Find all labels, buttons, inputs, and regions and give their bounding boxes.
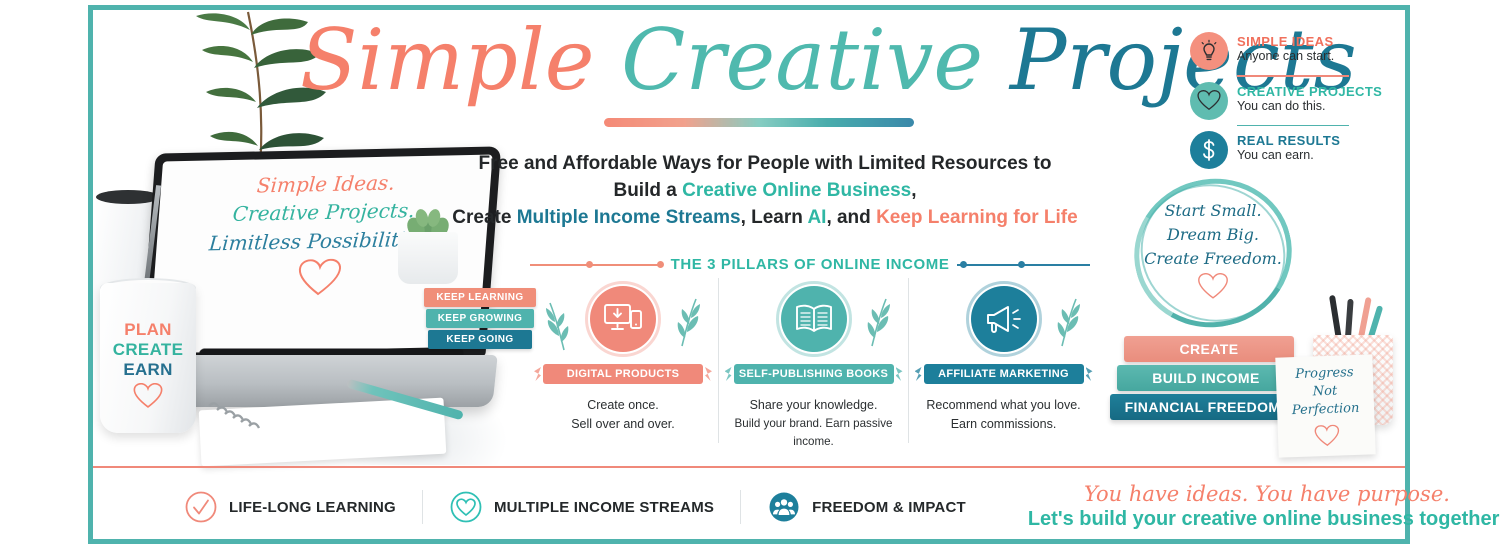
- pillar-desc-line-1: Share your knowledge.: [725, 396, 902, 415]
- footer-item-multiple-income-streams[interactable]: MULTIPLE INCOME STREAMS: [422, 490, 740, 524]
- heart-outline-icon: [133, 383, 163, 409]
- leaf-sprig-icon: [676, 296, 702, 348]
- benefit-real-results[interactable]: REAL RESULTS You can earn.: [1190, 131, 1390, 169]
- rule-dot: [960, 261, 967, 268]
- footer-items: LIFE-LONG LEARNING MULTIPLE INCOME STREA…: [158, 490, 992, 524]
- pillars-heading: THE 3 PILLARS OF ONLINE INCOME: [671, 256, 950, 273]
- pillar-circle: [971, 286, 1037, 352]
- small-book: KEEP GROWING: [426, 309, 534, 328]
- benefit-subtitle: You can earn.: [1237, 148, 1340, 162]
- open-book-icon: [794, 302, 834, 336]
- subtitle-line-2-post: ,: [911, 180, 916, 201]
- title-word-simple: Simple: [300, 11, 594, 109]
- subtitle-highlight-ai: AI: [807, 207, 826, 228]
- leaf-sprig-icon: [1056, 296, 1082, 348]
- people-circle-icon: [767, 490, 801, 524]
- lightbulb-icon: [1198, 39, 1220, 63]
- note-card-line-2: Not: [1291, 382, 1359, 402]
- subtitle-line-2-pre: Build a: [613, 180, 682, 201]
- pillar-description: Share your knowledge. Build your brand. …: [719, 396, 908, 451]
- mug-line-2: CREATE: [100, 340, 196, 360]
- footer-item-freedom-and-impact[interactable]: FREEDOM & IMPACT: [740, 490, 992, 524]
- subtitle: Free and Affordable Ways for People with…: [430, 150, 1100, 231]
- pillar-desc-line-2: Sell over and over.: [534, 415, 712, 434]
- pillar-description: Recommend what you love. Earn commission…: [909, 396, 1098, 435]
- pillar-self-publishing-books[interactable]: SELF-PUBLISHING BOOKS Share your knowled…: [718, 278, 908, 443]
- pillar-desc-line-2: Build your brand. Earn passive income.: [725, 415, 902, 451]
- heart-icon: [1197, 90, 1221, 111]
- footer-item-label: MULTIPLE INCOME STREAMS: [494, 499, 714, 516]
- note-card-text: Progress Not Perfection: [1290, 364, 1359, 420]
- pillar-circle: [781, 286, 847, 352]
- heart-circle-icon: [449, 490, 483, 524]
- pillar-banner: AFFILIATE MARKETING: [924, 364, 1084, 384]
- benefit-title: SIMPLE IDEAS: [1237, 34, 1334, 49]
- benefit-icon-circle: [1190, 82, 1228, 120]
- subtitle-line-3-pre: Create: [452, 207, 516, 228]
- benefit-title: REAL RESULTS: [1237, 133, 1340, 148]
- benefit-text: CREATIVE PROJECTS You can do this.: [1237, 82, 1382, 113]
- circle-quote-text: Start Small. Dream Big. Create Freedom.: [1144, 199, 1282, 307]
- subtitle-highlight-income: Multiple Income Streams: [517, 207, 741, 228]
- heart-outline-icon: [295, 259, 342, 298]
- pillar-banner: DIGITAL PRODUCTS: [543, 364, 703, 384]
- dollar-sign-icon: [1198, 138, 1220, 162]
- coffee-cup-rim: [96, 190, 160, 204]
- footer-cta: You have ideas. You have purpose. Let's …: [1028, 482, 1500, 532]
- book-financial-freedom: FINANCIAL FREEDOM: [1110, 394, 1295, 420]
- small-book: KEEP LEARNING: [424, 288, 536, 307]
- benefit-subtitle: You can do this.: [1237, 99, 1382, 113]
- benefit-creative-projects[interactable]: CREATIVE PROJECTS You can do this.: [1190, 82, 1390, 120]
- circle-quote-badge: Start Small. Dream Big. Create Freedom.: [1132, 193, 1294, 313]
- rule-dot: [657, 261, 664, 268]
- heart-outline-icon: [1313, 424, 1340, 447]
- heading-rule-right: [957, 264, 1090, 266]
- pillar-icon-wrap: [909, 278, 1098, 360]
- small-book: KEEP GOING: [428, 330, 532, 349]
- book-create: CREATE: [1124, 336, 1294, 362]
- monitor-download-icon: [603, 302, 643, 336]
- benefits-list: SIMPLE IDEAS Anyone can start. CREATIVE …: [1190, 32, 1390, 174]
- small-book-stack: KEEP LEARNING KEEP GROWING KEEP GOING: [424, 288, 536, 351]
- subtitle-line-3-mid2: , and: [826, 207, 876, 228]
- footer-divider: [93, 466, 1405, 468]
- footer-cta-bold: Let's build your creative online busines…: [1028, 506, 1500, 532]
- benefit-text: SIMPLE IDEAS Anyone can start.: [1237, 32, 1334, 63]
- benefit-divider: [1237, 125, 1349, 127]
- benefit-divider: [1237, 75, 1349, 77]
- pillar-desc-line-1: Recommend what you love.: [915, 396, 1092, 415]
- check-circle-icon: [184, 490, 218, 524]
- circle-quote-line-2: Dream Big.: [1144, 223, 1282, 247]
- pillar-icon-wrap: [719, 278, 908, 360]
- page-title: Simple Creative Projects: [300, 18, 1180, 102]
- circle-quote-line-3: Create Freedom.: [1144, 247, 1282, 271]
- mug-line-3: EARN: [100, 360, 196, 380]
- pillar-circle: [590, 286, 656, 352]
- plant-pot: [398, 232, 458, 284]
- heart-outline-icon: [1197, 273, 1229, 300]
- footer-bar: LIFE-LONG LEARNING MULTIPLE INCOME STREA…: [93, 470, 1405, 544]
- leaf-sprig-icon: [866, 296, 892, 348]
- title-underline-swoosh: [604, 118, 914, 127]
- leaf-sprig-icon: [544, 300, 570, 352]
- note-card-line-3: Perfection: [1292, 400, 1360, 420]
- footer-item-label: FREEDOM & IMPACT: [812, 499, 966, 516]
- footer-cta-script: You have ideas. You have purpose.: [1028, 482, 1500, 506]
- pillars-list: DIGITAL PRODUCTS Create once. Sell over …: [528, 278, 1098, 443]
- pillar-icon-wrap: [528, 278, 718, 360]
- note-card-line-1: Progress: [1290, 364, 1358, 384]
- note-card: Progress Not Perfection: [1275, 354, 1375, 457]
- subtitle-highlight-business: Creative Online Business: [682, 180, 911, 201]
- megaphone-icon: [984, 302, 1024, 336]
- heading-rule-left: [530, 264, 663, 266]
- subtitle-line-1: Free and Affordable Ways for People with…: [430, 150, 1100, 177]
- pillar-affiliate-marketing[interactable]: AFFILIATE MARKETING Recommend what you l…: [908, 278, 1098, 443]
- benefit-simple-ideas[interactable]: SIMPLE IDEAS Anyone can start.: [1190, 32, 1390, 70]
- book-build-income: BUILD INCOME: [1117, 365, 1295, 391]
- footer-item-label: LIFE-LONG LEARNING: [229, 499, 396, 516]
- rule-dot: [586, 261, 593, 268]
- mug-line-1: PLAN: [100, 320, 196, 340]
- benefit-text: REAL RESULTS You can earn.: [1237, 131, 1340, 162]
- benefit-subtitle: Anyone can start.: [1237, 49, 1334, 63]
- footer-item-life-long-learning[interactable]: LIFE-LONG LEARNING: [158, 490, 422, 524]
- subtitle-line-2: Build a Creative Online Business,: [430, 177, 1100, 204]
- pillar-banner: SELF-PUBLISHING BOOKS: [734, 364, 894, 384]
- pillar-desc-line-2: Earn commissions.: [915, 415, 1092, 434]
- benefit-title: CREATIVE PROJECTS: [1237, 84, 1382, 99]
- banner-root: Simple Ideas. Creative Projects. Limitle…: [0, 0, 1500, 549]
- benefit-icon-circle: [1190, 32, 1228, 70]
- subtitle-line-3: Create Multiple Income Streams, Learn AI…: [430, 204, 1100, 231]
- spiral-binding-icon: [205, 400, 265, 444]
- pillars-heading-row: THE 3 PILLARS OF ONLINE INCOME: [530, 256, 1090, 273]
- rule-dot: [1018, 261, 1025, 268]
- big-book-stack: CREATE BUILD INCOME FINANCIAL FREEDOM: [1110, 336, 1295, 423]
- benefit-icon-circle: [1190, 131, 1228, 169]
- mug-text: PLAN CREATE EARN: [100, 320, 196, 414]
- pillar-desc-line-1: Create once.: [534, 396, 712, 415]
- pillar-description: Create once. Sell over and over.: [528, 396, 718, 435]
- circle-quote-line-1: Start Small.: [1144, 199, 1282, 223]
- subtitle-line-3-mid: , Learn: [741, 207, 808, 228]
- title-word-creative: Creative: [621, 11, 983, 109]
- pillar-digital-products[interactable]: DIGITAL PRODUCTS Create once. Sell over …: [528, 278, 718, 443]
- subtitle-highlight-learning: Keep Learning for Life: [876, 207, 1078, 228]
